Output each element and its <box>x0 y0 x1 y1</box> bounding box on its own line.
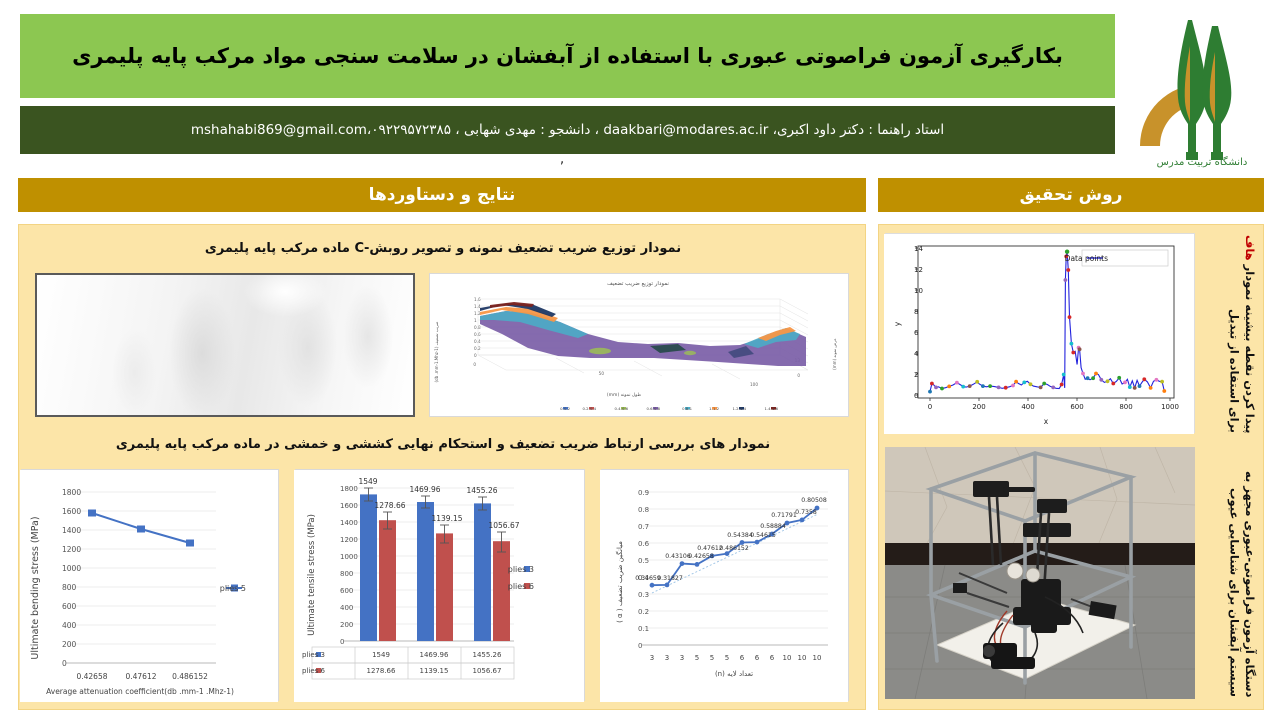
svg-text:1200: 1200 <box>62 545 81 554</box>
svg-text:0.43106: 0.43106 <box>665 553 691 560</box>
svg-text:1600: 1600 <box>62 507 81 516</box>
svg-text:0: 0 <box>928 403 932 411</box>
svg-text:5: 5 <box>710 654 714 662</box>
svg-text:600: 600 <box>62 602 77 611</box>
svg-text:1.4: 1.4 <box>474 304 481 309</box>
svg-text:1.2-1.4: 1.2-1.4 <box>733 406 747 411</box>
svg-text:5: 5 <box>725 654 729 662</box>
svg-text:0.42658: 0.42658 <box>76 672 107 681</box>
method-vtext-1-b: برای استفاده از تبدیل <box>1227 309 1241 433</box>
svg-text:0.58884: 0.58884 <box>760 523 786 530</box>
svg-text:400: 400 <box>1021 403 1034 411</box>
svg-text:0.4: 0.4 <box>474 339 481 344</box>
svg-text:3: 3 <box>665 654 669 662</box>
svg-text:1000: 1000 <box>62 564 81 573</box>
svg-text:0.9: 0.9 <box>638 489 649 497</box>
svg-text:1-1.2: 1-1.2 <box>709 406 719 411</box>
tensile-chart-svg: Ultimate tensile stress (MPa) 18001 <box>294 470 584 702</box>
svg-text:6: 6 <box>770 654 775 662</box>
svg-text:200: 200 <box>340 621 353 629</box>
results-caption-1: نمودار توزیع ضریب تضعیف نمونه و تصویر رو… <box>37 241 849 256</box>
section-header-method: روش تحقیق <box>878 178 1264 212</box>
svg-text:3: 3 <box>680 654 684 662</box>
svg-text:0.486152: 0.486152 <box>172 672 208 681</box>
poster-authors: استاد راهنما : دکتر داود اکبری، daakbari… <box>191 122 944 138</box>
poster-authors-bar: استاد راهنما : دکتر داود اکبری، daakbari… <box>20 106 1115 154</box>
svg-text:14: 14 <box>914 245 923 253</box>
surface-chart-title: نمودار توزیع ضریب تضعیف <box>607 281 669 287</box>
svg-text:0.5: 0.5 <box>638 557 649 565</box>
svg-text:1.4-1.6: 1.4-1.6 <box>765 406 779 411</box>
svg-text:1000: 1000 <box>1161 403 1179 411</box>
equipment-photo-svg <box>885 447 1195 699</box>
svg-text:0-0.2: 0-0.2 <box>560 406 570 411</box>
svg-text:1056.67: 1056.67 <box>488 521 519 530</box>
svg-text:800: 800 <box>62 583 77 592</box>
svg-text:1549: 1549 <box>358 477 377 486</box>
svg-text:3: 3 <box>650 654 654 662</box>
svg-text:0: 0 <box>914 392 918 400</box>
section-header-results: نتایج و دستاوردها <box>18 178 866 212</box>
svg-text:0.7: 0.7 <box>638 523 649 531</box>
poster-title: بکارگیری آزمون فراصوتی عبوری با استفاده … <box>72 43 1063 69</box>
svg-text:0.7358: 0.7358 <box>795 509 817 516</box>
method-vertical-text-1: پیدا کردن نقطه بیشینه نمودار هاف برای اس… <box>1199 233 1257 433</box>
svg-text:0.2-0.4: 0.2-0.4 <box>583 406 597 411</box>
bending-chart-xticks: 0.42658 0.47612 0.486152 <box>76 672 208 681</box>
svg-text:0.31827: 0.31827 <box>657 575 683 582</box>
svg-text:10: 10 <box>798 654 807 662</box>
method-vertical-text-2: دستگاه آزمون فراصوتی-عبوری مجهز به سیستم… <box>1199 447 1257 697</box>
tensile-table-r2c1: 1278.66 <box>367 667 396 675</box>
svg-text:0.486152: 0.486152 <box>719 545 749 552</box>
svg-text:0.6: 0.6 <box>638 540 650 548</box>
bending-chart-legend: 5 plies <box>220 584 246 593</box>
svg-text:1.6: 1.6 <box>474 297 481 302</box>
svg-text:0: 0 <box>474 353 477 358</box>
svg-text:0.8: 0.8 <box>638 506 649 514</box>
results-caption-2: نمودار های بررسی ارتباط ضریب تضعیف و است… <box>37 437 849 452</box>
method-panel: پیدا کردن نقطه بیشینه نمودار هاف برای اس… <box>878 224 1264 710</box>
method-equipment-photo <box>885 447 1195 699</box>
svg-text:0.8: 0.8 <box>474 325 481 330</box>
tensile-chart-ylabel: Ultimate tensile stress (MPa) <box>307 514 317 636</box>
tensile-table-r2c2: 1139.15 <box>420 667 449 675</box>
svg-text:100: 100 <box>750 382 758 387</box>
svg-text:0.54384: 0.54384 <box>727 532 753 539</box>
svg-text:50: 50 <box>599 371 605 376</box>
svg-text:6: 6 <box>914 329 919 337</box>
tensile-legend-label-1: 3 plies <box>508 565 534 574</box>
method-signal-ylabel: y <box>893 321 902 326</box>
method-signal-legend-label: Data points <box>1065 254 1108 263</box>
svg-text:0.42658: 0.42658 <box>688 553 714 560</box>
svg-text:1469.96: 1469.96 <box>409 485 440 494</box>
chart-bending-vs-attenuation: Ultimate bending stress (MPa) <box>21 469 279 701</box>
atten-chart-svg: میانگین ضریب تضعیف ( α ) 0.90.8 <box>600 470 848 702</box>
tensile-table-r2c3: 1056.67 <box>473 667 502 675</box>
chart-attenuation-vs-plies: میانگین ضریب تضعیف ( α ) 0.90.8 <box>601 469 849 701</box>
svg-text:0: 0 <box>62 659 67 668</box>
svg-text:0: 0 <box>340 638 344 646</box>
svg-text:12: 12 <box>914 266 923 274</box>
surface-chart-legend: 0-0.2 0.2-0.4 0.4-0.6 0.6-0.8 0.8-1 1-1.… <box>560 406 778 411</box>
chart-tensile-bar: Ultimate tensile stress (MPa) 18001 <box>295 469 585 701</box>
svg-text:400: 400 <box>62 621 77 630</box>
svg-text:0.80508: 0.80508 <box>801 497 827 504</box>
svg-text:2: 2 <box>914 371 918 379</box>
svg-text:4: 4 <box>914 350 919 358</box>
svg-text:1200: 1200 <box>340 536 358 544</box>
svg-text:0.1: 0.1 <box>638 625 649 633</box>
svg-text:1278.66: 1278.66 <box>374 501 405 510</box>
method-vtext-1-a: پیدا کردن نقطه بیشینه نمودار <box>1243 260 1257 433</box>
tensile-table-r1c2: 1469.96 <box>420 651 449 659</box>
stray-comma: , <box>560 152 564 167</box>
tensile-table-r1c3: 1455.26 <box>473 651 502 659</box>
logo-caption: دانشگاه تربیت مدرس <box>1132 157 1272 168</box>
surface-chart-svg: نمودار توزیع ضریب تضعیف ضریب تضعیف (db .… <box>428 274 848 418</box>
svg-text:1.2: 1.2 <box>474 311 481 316</box>
bending-chart-legend-label: 5 plies <box>220 584 246 593</box>
svg-text:200: 200 <box>62 640 77 649</box>
method-signal-svg: 1412 108 64 20 0 <box>884 234 1194 434</box>
svg-text:0.8-1: 0.8-1 <box>682 406 692 411</box>
section-header-method-label: روش تحقیق <box>1020 185 1123 205</box>
surface-chart-xlabel: طول نمونه (mm) <box>607 392 642 398</box>
bending-chart-svg: Ultimate bending stress (MPa) <box>20 470 278 702</box>
bending-chart-ylabel: Ultimate bending stress (MPa) <box>30 516 41 659</box>
svg-text:1455.26: 1455.26 <box>466 486 497 495</box>
tensile-table-r1c1: 1549 <box>372 651 390 659</box>
surface-chart-zlabel: عرض نمونه (mm) <box>832 338 837 370</box>
svg-text:1800: 1800 <box>340 485 358 493</box>
svg-text:0: 0 <box>473 362 476 367</box>
svg-text:6: 6 <box>740 654 745 662</box>
svg-text:0.4-0.6: 0.4-0.6 <box>615 406 629 411</box>
svg-text:8: 8 <box>914 308 918 316</box>
svg-text:10: 10 <box>914 287 923 295</box>
svg-text:10: 10 <box>783 654 792 662</box>
svg-text:0: 0 <box>638 642 642 650</box>
logo-mark <box>1132 6 1272 170</box>
svg-text:10: 10 <box>813 654 822 662</box>
svg-text:0.6: 0.6 <box>474 332 481 337</box>
svg-text:0: 0 <box>797 373 800 378</box>
tensile-legend-label-2: 6 plies <box>508 582 534 591</box>
poster-root: بکارگیری آزمون فراصوتی عبوری با استفاده … <box>0 0 1280 720</box>
c-scan-image <box>35 273 415 417</box>
svg-text:0.2: 0.2 <box>638 608 649 616</box>
svg-text:0.3: 0.3 <box>638 591 649 599</box>
tensile-table-row1-name: 3 plies <box>302 651 325 659</box>
svg-text:0.47612: 0.47612 <box>125 672 156 681</box>
bending-chart-xlabel: Average attenuation coefficient(db .mm-1… <box>46 687 234 696</box>
chart-method-signal: 1412 108 64 20 0 <box>885 233 1195 433</box>
tensile-table-row2-name: 6 plies <box>302 667 326 675</box>
section-header-results-label: نتایج و دستاوردها <box>369 185 516 205</box>
surface-chart-ylabel: ضریب تضعیف (db .mm-1.Mhz-1) <box>434 321 439 383</box>
svg-text:600: 600 <box>340 587 353 595</box>
svg-text:1600: 1600 <box>340 502 358 510</box>
svg-text:5: 5 <box>695 654 699 662</box>
svg-text:0.6-0.8: 0.6-0.8 <box>647 406 661 411</box>
atten-chart-xlabel: تعداد لایه (n) <box>715 670 753 678</box>
svg-text:6: 6 <box>755 654 760 662</box>
svg-text:200: 200 <box>972 403 985 411</box>
method-vtext-1-highlight: هاف <box>1243 235 1257 261</box>
svg-text:1139.15: 1139.15 <box>431 514 462 523</box>
svg-text:1400: 1400 <box>340 519 358 527</box>
results-panel: نمودار توزیع ضریب تضعیف نمونه و تصویر رو… <box>18 224 866 710</box>
chart-surface-attenuation: نمودار توزیع ضریب تضعیف ضریب تضعیف (db .… <box>429 273 849 417</box>
svg-text:0.54615: 0.54615 <box>750 532 776 539</box>
method-signal-xlabel: x <box>1044 417 1049 426</box>
svg-text:1000: 1000 <box>340 553 358 561</box>
svg-text:1400: 1400 <box>62 526 81 535</box>
svg-text:0.71791: 0.71791 <box>771 512 797 519</box>
university-logo: دانشگاه تربیت مدرس <box>1132 6 1272 170</box>
poster-title-bar: بکارگیری آزمون فراصوتی عبوری با استفاده … <box>20 14 1115 98</box>
svg-text:400: 400 <box>340 604 353 612</box>
svg-text:600: 600 <box>1070 403 1083 411</box>
svg-text:800: 800 <box>340 570 353 578</box>
svg-text:1: 1 <box>474 318 477 323</box>
atten-chart-ylabel: میانگین ضریب تضعیف ( α ) <box>615 541 624 623</box>
svg-text:800: 800 <box>1119 403 1132 411</box>
svg-text:1800: 1800 <box>62 488 81 497</box>
svg-text:0.2: 0.2 <box>474 346 481 351</box>
